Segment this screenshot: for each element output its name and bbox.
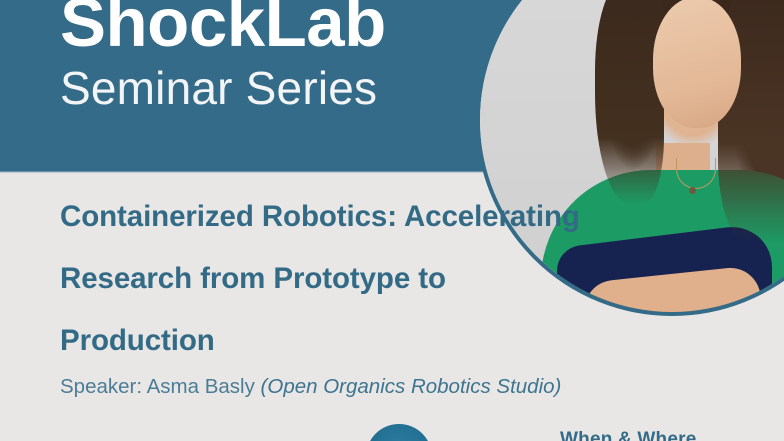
- portrait-face: [653, 0, 741, 128]
- talk-title: Containerized Robotics: Accelerating Res…: [60, 186, 580, 372]
- brand-title: ShockLab: [60, 0, 386, 61]
- footer-strip: OO When & Where: [0, 424, 784, 441]
- brand-block: ShockLab Seminar Series: [60, 0, 386, 113]
- portrait-hair-left: [595, 0, 664, 204]
- speaker-line: Speaker: Asma Basly (Open Organics Robot…: [60, 374, 561, 400]
- seminar-flyer: ShockLab Seminar Series Containerized Ro…: [0, 0, 784, 441]
- speaker-affiliation: (Open Organics Robotics Studio): [261, 375, 562, 398]
- footer-cutoff-text: When & Where: [560, 429, 696, 441]
- organization-logo-icon: OO: [366, 424, 432, 441]
- speaker-name: Speaker: Asma Basly: [60, 375, 255, 398]
- brand-subtitle: Seminar Series: [60, 63, 386, 114]
